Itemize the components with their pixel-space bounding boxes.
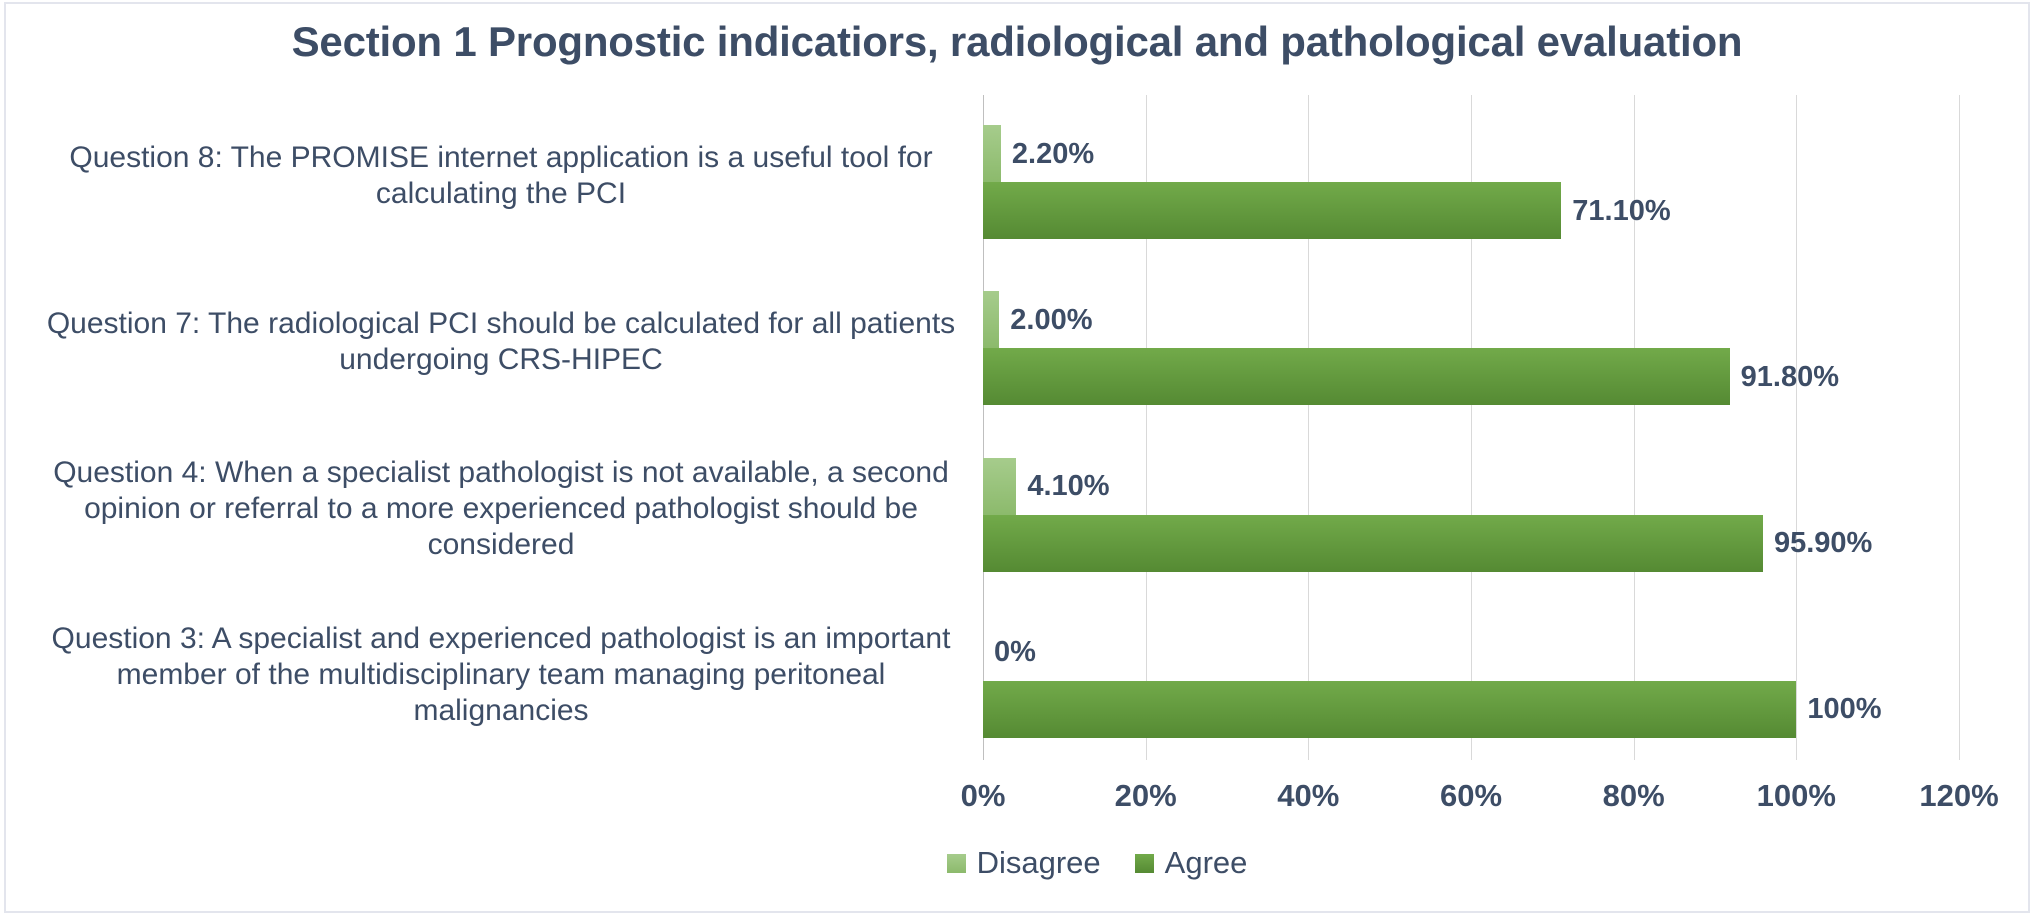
chart-page: Section 1 Prognostic indicatiors, radiol… bbox=[0, 0, 2034, 917]
category-label: Question 4: When a specialist pathologis… bbox=[36, 455, 966, 563]
plot-area bbox=[983, 95, 1959, 760]
bar-agree-1[interactable] bbox=[983, 348, 1730, 405]
bar-disagree-0[interactable] bbox=[983, 125, 1001, 182]
bar-value-label: 100% bbox=[1807, 695, 1881, 724]
category-label: Question 7: The radiological PCI should … bbox=[36, 306, 966, 378]
bar-disagree-2[interactable] bbox=[983, 458, 1016, 515]
bar-value-label: 71.10% bbox=[1572, 197, 1670, 226]
x-tick-label: 60% bbox=[1391, 778, 1551, 814]
x-tick-label: 0% bbox=[903, 778, 1063, 814]
legend-label-disagree: Disagree bbox=[977, 845, 1101, 881]
bar-disagree-1[interactable] bbox=[983, 291, 999, 348]
bar-value-label: 4.10% bbox=[1027, 472, 1109, 501]
bar-agree-2[interactable] bbox=[983, 515, 1763, 572]
chart-title: Section 1 Prognostic indicatiors, radiol… bbox=[0, 18, 2034, 66]
legend-item-disagree[interactable]: Disagree bbox=[947, 845, 1101, 881]
bar-value-label: 91.80% bbox=[1741, 363, 1839, 392]
gridline-100% bbox=[1796, 95, 1797, 760]
chart-legend: Disagree Agree bbox=[0, 845, 2034, 881]
bar-value-label: 0% bbox=[994, 638, 1036, 667]
legend-label-agree: Agree bbox=[1165, 845, 1248, 881]
legend-swatch-agree-icon bbox=[1135, 854, 1154, 873]
category-label: Question 3: A specialist and experienced… bbox=[36, 621, 966, 729]
x-tick-label: 100% bbox=[1716, 778, 1876, 814]
x-tick-label: 20% bbox=[1066, 778, 1226, 814]
legend-item-agree[interactable]: Agree bbox=[1135, 845, 1248, 881]
x-tick-label: 40% bbox=[1228, 778, 1388, 814]
gridline-120% bbox=[1959, 95, 1960, 760]
bar-agree-3[interactable] bbox=[983, 681, 1796, 738]
category-label: Question 8: The PROMISE internet applica… bbox=[36, 140, 966, 212]
bar-agree-0[interactable] bbox=[983, 182, 1561, 239]
bar-value-label: 2.20% bbox=[1012, 140, 1094, 169]
bar-value-label: 2.00% bbox=[1010, 306, 1092, 335]
bar-value-label: 95.90% bbox=[1774, 529, 1872, 558]
x-tick-label: 120% bbox=[1879, 778, 2034, 814]
x-tick-label: 80% bbox=[1554, 778, 1714, 814]
legend-swatch-disagree-icon bbox=[947, 854, 966, 873]
